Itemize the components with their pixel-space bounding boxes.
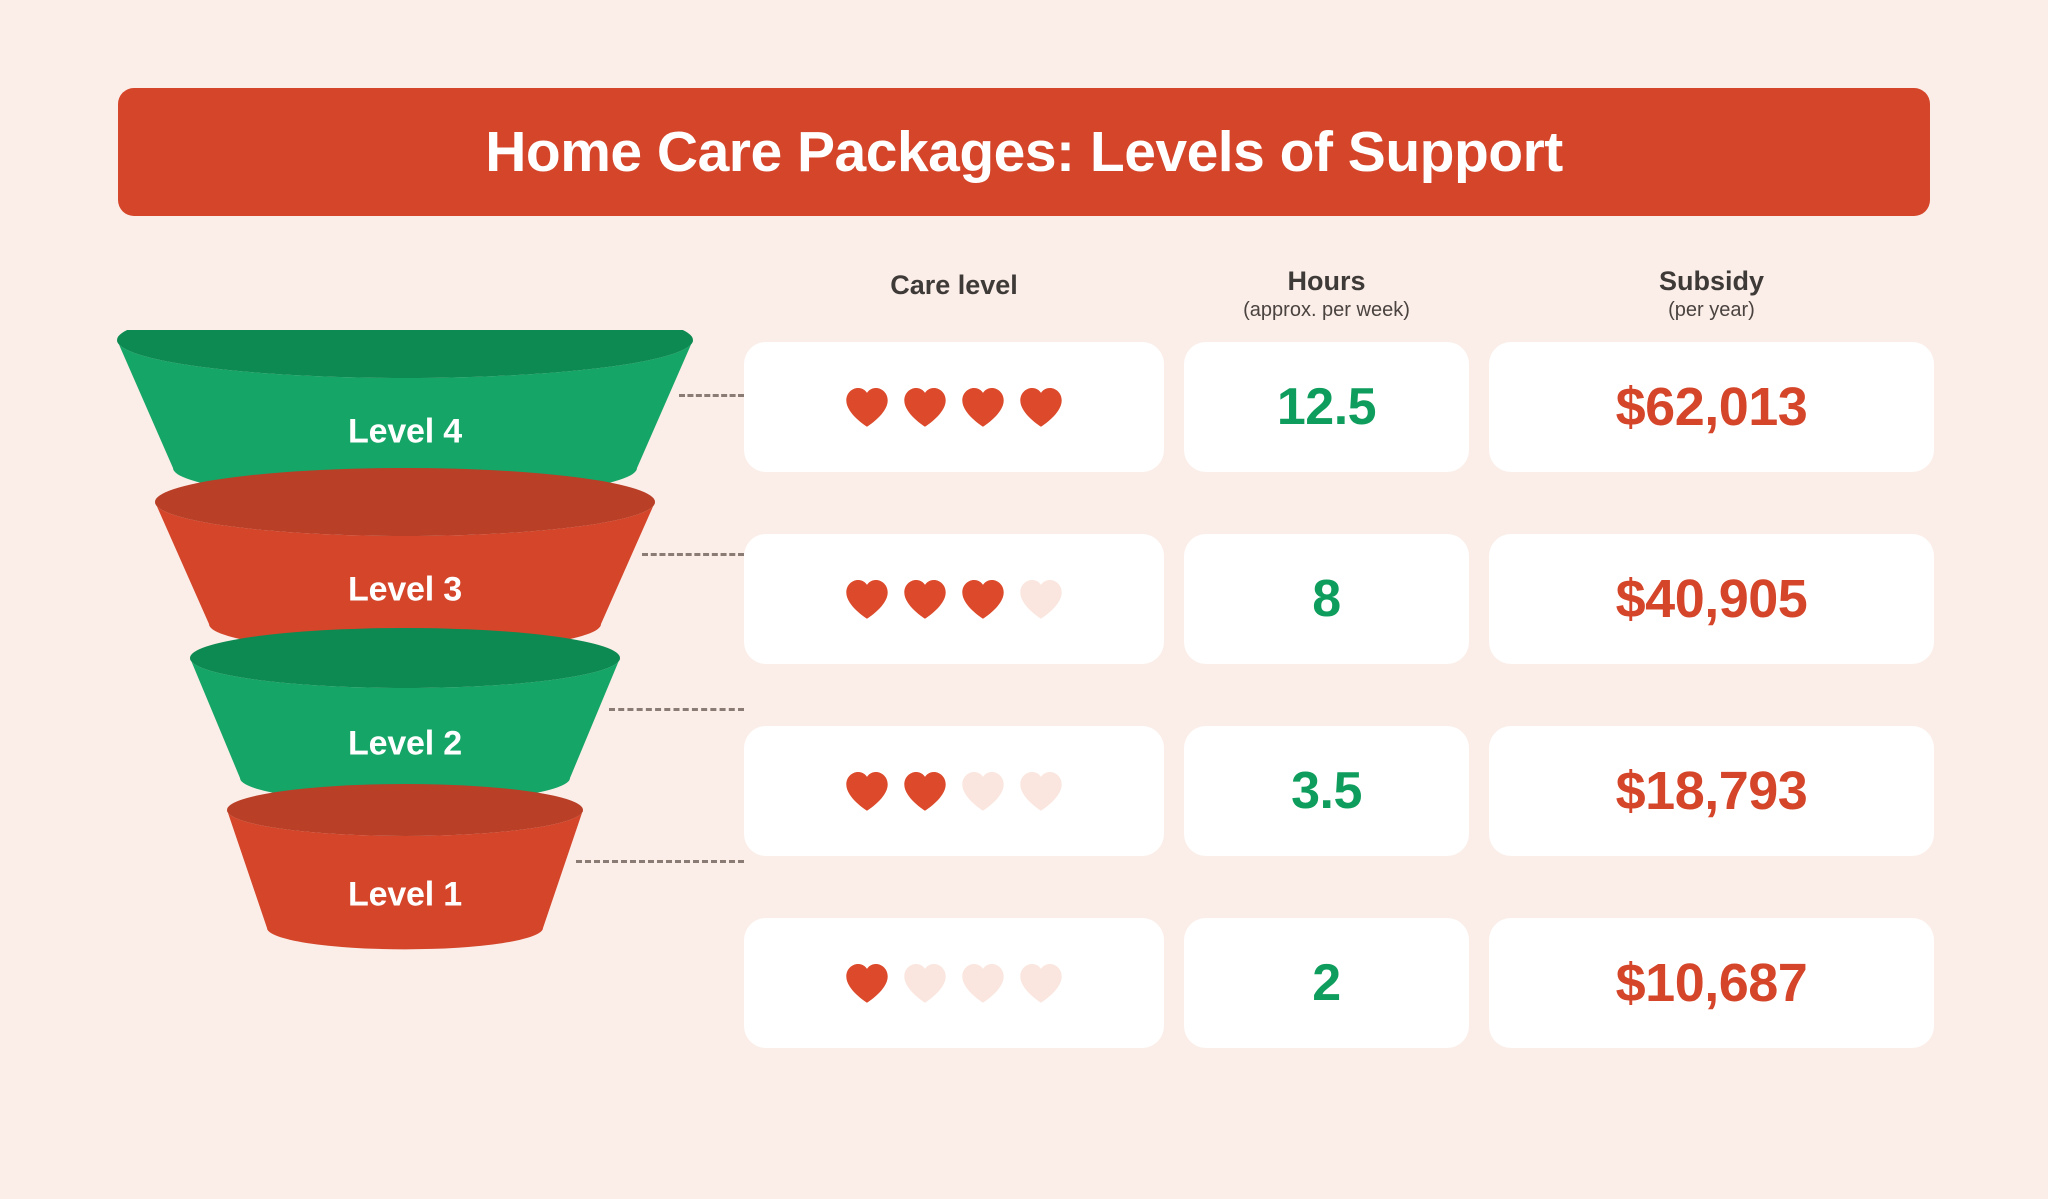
- hours-card: 12.5: [1184, 342, 1469, 472]
- heart-icon: [902, 577, 948, 621]
- column-header-sub: (approx. per week): [1164, 298, 1489, 323]
- heart-icon: [902, 961, 948, 1005]
- connector-line: [642, 553, 744, 556]
- column-header-main: Care level: [744, 270, 1164, 302]
- hours-card: 3.5: [1184, 726, 1469, 856]
- hours-card: 8: [1184, 534, 1469, 664]
- column-header-subsidy: Subsidy (per year): [1489, 266, 1934, 323]
- heart-icon: [844, 385, 890, 429]
- subsidy-card: $40,905: [1489, 534, 1934, 664]
- funnel-segment-label: Level 2: [348, 725, 462, 764]
- heart-icon: [960, 385, 1006, 429]
- heart-icon: [844, 961, 890, 1005]
- title-banner: Home Care Packages: Levels of Support: [118, 88, 1930, 216]
- care-level-card: [744, 534, 1164, 664]
- column-headers: Care level Hours (approx. per week) Subs…: [744, 262, 1934, 342]
- subsidy-card: $18,793: [1489, 726, 1934, 856]
- column-header-main: Subsidy: [1489, 266, 1934, 298]
- column-header-hours: Hours (approx. per week): [1164, 266, 1489, 323]
- care-level-card: [744, 726, 1164, 856]
- hours-value: 12.5: [1277, 377, 1376, 437]
- subsidy-value: $62,013: [1616, 376, 1808, 438]
- heart-icon: [1018, 385, 1064, 429]
- subsidy-value: $18,793: [1616, 760, 1808, 822]
- connector-line: [679, 394, 744, 397]
- heart-icon: [1018, 961, 1064, 1005]
- heart-icon: [1018, 577, 1064, 621]
- heart-icon: [902, 385, 948, 429]
- funnel-segment-label: Level 3: [348, 570, 462, 609]
- page-title: Home Care Packages: Levels of Support: [485, 119, 1563, 185]
- funnel-segment-top-ellipse: [227, 784, 583, 836]
- connector-line: [609, 708, 744, 711]
- funnel-segment-label: Level 1: [348, 875, 462, 914]
- column-header-care-level: Care level: [744, 270, 1164, 302]
- heart-rating: [844, 769, 1064, 813]
- infographic-page: Home Care Packages: Levels of Support Ca…: [0, 0, 2048, 1199]
- heart-icon: [1018, 769, 1064, 813]
- column-header-main: Hours: [1164, 266, 1489, 298]
- column-header-sub: (per year): [1489, 298, 1934, 323]
- connector-line: [576, 860, 744, 863]
- heart-icon: [960, 577, 1006, 621]
- subsidy-card: $10,687: [1489, 918, 1934, 1048]
- subsidy-value: $40,905: [1616, 568, 1808, 630]
- funnel-segment-4: [227, 784, 583, 949]
- care-level-card: [744, 342, 1164, 472]
- heart-rating: [844, 577, 1064, 621]
- heart-icon: [902, 769, 948, 813]
- funnel-segment-top-ellipse: [155, 468, 655, 536]
- heart-icon: [960, 769, 1006, 813]
- hours-card: 2: [1184, 918, 1469, 1048]
- hours-value: 2: [1312, 953, 1340, 1013]
- heart-icon: [960, 961, 1006, 1005]
- funnel-segment-top-ellipse: [190, 628, 620, 688]
- heart-icon: [844, 769, 890, 813]
- hours-value: 3.5: [1291, 761, 1362, 821]
- subsidy-value: $10,687: [1616, 952, 1808, 1014]
- funnel-segment-label: Level 4: [348, 413, 462, 452]
- funnel-segment-2: [155, 468, 655, 652]
- heart-icon: [844, 577, 890, 621]
- hours-value: 8: [1312, 569, 1340, 629]
- funnel-segment-3: [190, 628, 620, 803]
- heart-rating: [844, 385, 1064, 429]
- subsidy-card: $62,013: [1489, 342, 1934, 472]
- heart-rating: [844, 961, 1064, 1005]
- care-level-card: [744, 918, 1164, 1048]
